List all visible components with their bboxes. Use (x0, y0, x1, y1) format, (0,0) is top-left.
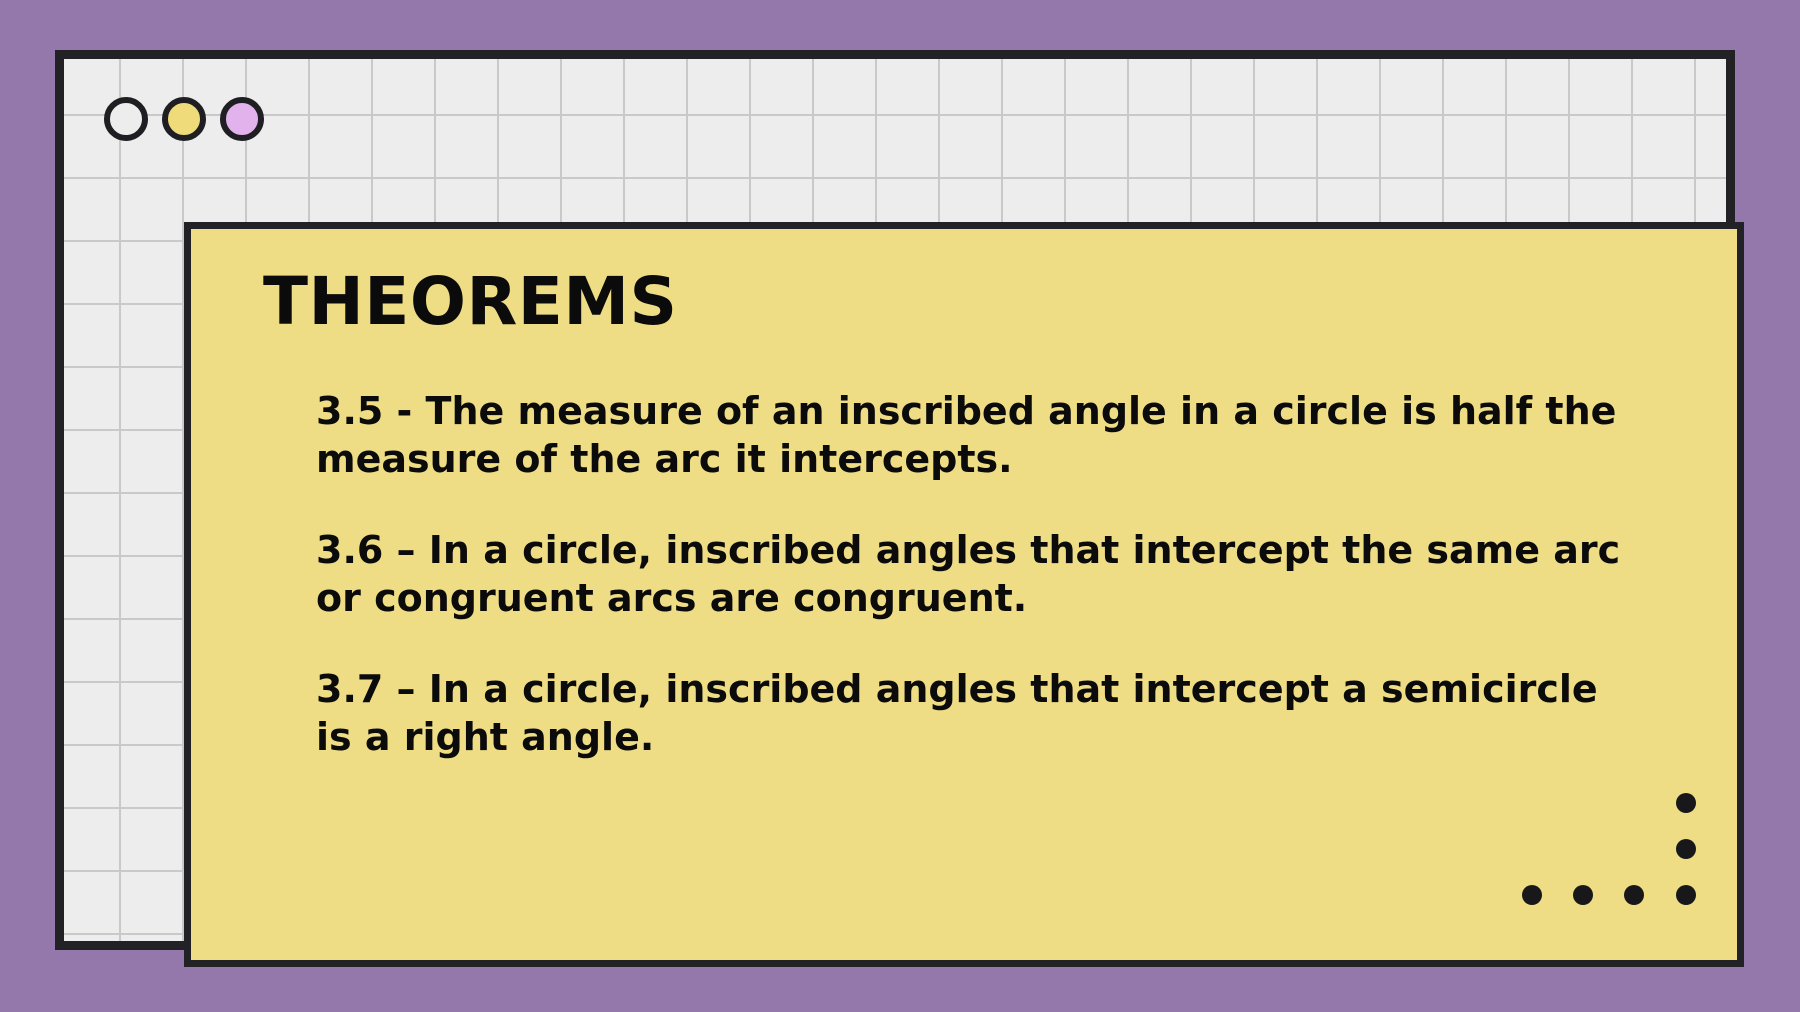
theorem-list: 3.5 - The measure of an inscribed angle … (251, 388, 1677, 761)
browser-window: THEOREMS 3.5 - The measure of an inscrib… (55, 50, 1735, 950)
decorative-dot (1624, 885, 1644, 905)
decorative-dot (1676, 793, 1696, 813)
theorem-item-3-5: 3.5 - The measure of an inscribed angle … (316, 388, 1637, 483)
theorem-item-3-7: 3.7 – In a circle, inscribed angles that… (316, 666, 1637, 761)
decorative-dot (1573, 885, 1593, 905)
decorative-dot (1522, 885, 1542, 905)
decorative-dot-row (1522, 885, 1644, 905)
decorative-dot-column (1676, 793, 1696, 905)
window-dot-white-icon[interactable] (104, 97, 148, 141)
decorative-dot (1676, 885, 1696, 905)
window-dot-purple-icon[interactable] (220, 97, 264, 141)
window-controls[interactable] (104, 97, 264, 141)
theorem-item-3-6: 3.6 – In a circle, inscribed angles that… (316, 527, 1637, 622)
window-dot-yellow-icon[interactable] (162, 97, 206, 141)
theorems-card: THEOREMS 3.5 - The measure of an inscrib… (184, 222, 1744, 967)
decorative-dot (1676, 839, 1696, 859)
slide-canvas: SLIDESMANIA THEOREMS 3.5 - The measure o… (0, 0, 1800, 1012)
page-title: THEOREMS (263, 267, 1677, 336)
